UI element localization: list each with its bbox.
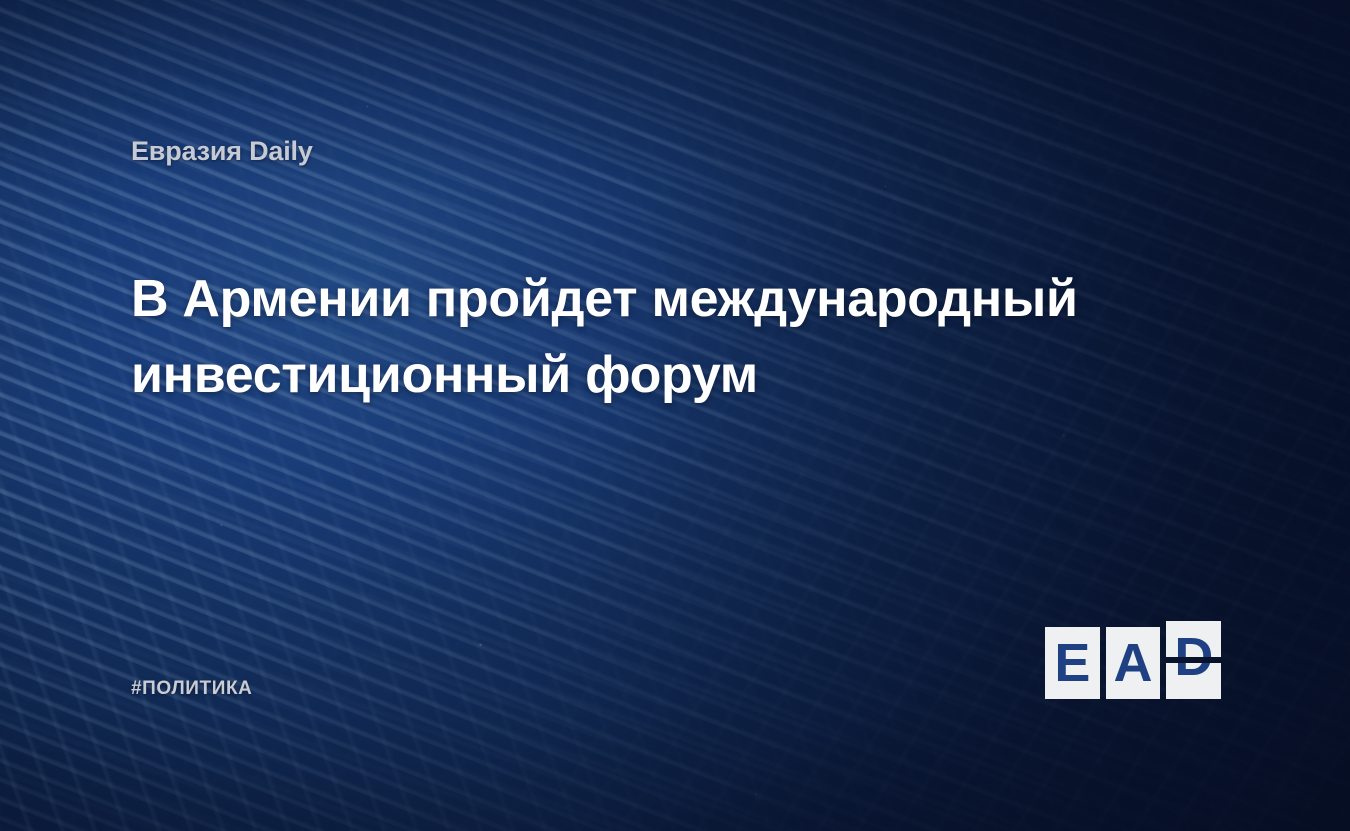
news-card: Евразия Daily В Армении пройдет междунар… bbox=[0, 0, 1350, 831]
logo-letter-d-top-half: D bbox=[1166, 621, 1221, 657]
card-content: Евразия Daily В Армении пройдет междунар… bbox=[0, 0, 1350, 831]
category-hashtag: #ПОЛИТИКА bbox=[131, 678, 253, 700]
logo-tile-a: A bbox=[1106, 627, 1161, 699]
logo-letter-d-upper: D bbox=[1166, 630, 1221, 657]
brand-name: Евразия Daily bbox=[131, 136, 313, 167]
logo-letter-d-bottom-half: D bbox=[1166, 663, 1221, 699]
logo-letter-a: A bbox=[1114, 636, 1153, 690]
logo-tile-e: E bbox=[1045, 627, 1100, 699]
logo-letter-e: E bbox=[1054, 636, 1090, 690]
logo-letter-d-lower: D bbox=[1166, 663, 1221, 684]
ead-logo: E A D D bbox=[1045, 627, 1221, 703]
logo-tile-d: D D bbox=[1166, 627, 1221, 699]
page-title: В Армении пройдет международный инвестиц… bbox=[131, 262, 1141, 414]
